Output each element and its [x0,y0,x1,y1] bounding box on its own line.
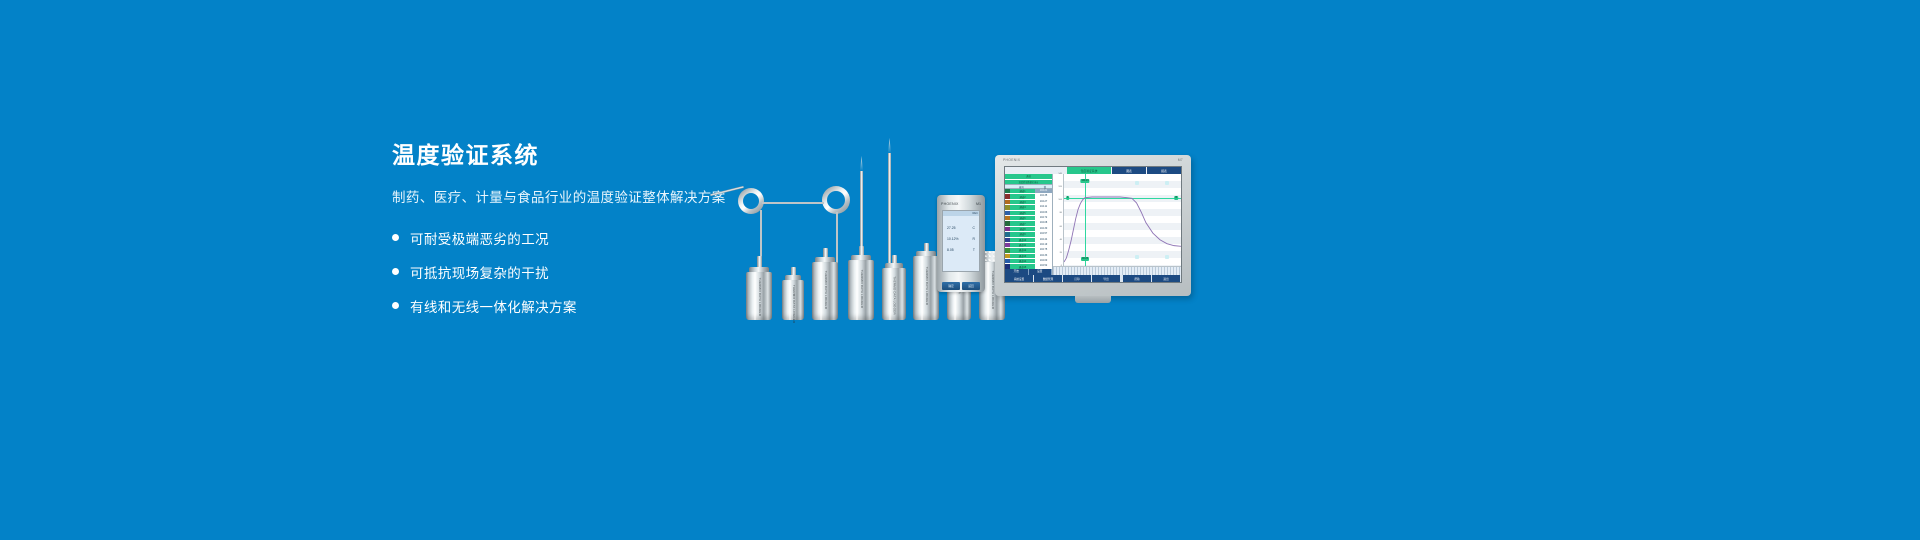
data-logger: THERMO DATA LOGGER [746,268,772,320]
axis-tick-label: 80 [1060,212,1062,214]
data-logger: THERMO DATA LOGGER [782,276,804,320]
axis-tick-label: 100 [1058,199,1062,201]
bullet-dot-icon [392,302,399,309]
bullet-text: 可抵抗现场复杂的干扰 [410,262,549,282]
logger-label: THERMO DATA LOGGER [924,266,928,283]
logger-highlight [921,256,923,320]
handheld-keypad[interactable]: 确定 返回 [942,282,980,290]
status-badge: REC [973,212,978,215]
column-header-name: 编号 [1005,185,1038,188]
channel-value: 104.08 [1035,221,1052,225]
logger-body: THERMO DATA LOGGER [882,268,906,320]
channel-value: 104.35 [1035,194,1052,198]
logger-body: THERMO DATA LOGGER [848,260,874,320]
brand-label: PHOENIX [1003,158,1020,164]
channel-name: 通道5 [1010,211,1035,215]
readout-value: 27.25 [947,226,956,230]
tab-report[interactable]: 报表 [1147,167,1181,174]
readout-value: 10.12% [947,237,959,241]
channel-value: 104.60 [1035,259,1052,263]
data-logger: THERMO DATA LOGGER [848,256,874,320]
handheld-reader-device[interactable]: PHOENIX M1 REC 27.25 C 10.12% R 8.05 T [937,195,985,292]
logger-body: THERMO DATA LOGGER [782,280,804,320]
app-bottom-toolbar[interactable]: 系统设置数据管理打印导出帮助退出 [1005,275,1181,282]
bullet-text: 可耐受极端恶劣的工况 [410,228,549,248]
axis-tick-label: 40 [1060,239,1062,241]
logger-label: THERMO DATA LOGGER [791,285,795,299]
bullet-dot-icon [392,234,399,241]
chart-annotation [1135,181,1139,185]
readout-value: 8.05 [947,248,954,252]
channel-name: 通道10 [1010,238,1035,242]
list-item: 8.05 T [947,248,975,252]
channel-data-panel: 通道 温度验证数据记录仪 编号 值 通道1104.21通道2104.35通道31… [1005,174,1053,275]
chart-annotation [1165,181,1169,185]
channel-value: 104.33 [1035,254,1052,258]
logger-body: THERMO DATA LOGGER [812,262,838,320]
axis-tick-label: 0 [1061,265,1062,267]
channel-name: 通道1 [1010,189,1035,193]
channel-value: 104.11 [1035,205,1052,209]
logger-label: THERMO DATA LOGGER [859,269,863,286]
coil-probe-icon [822,186,850,214]
channel-row-list: 通道1104.21通道2104.35通道3104.27通道4104.11通道51… [1005,189,1052,269]
logger-highlight [820,262,822,320]
readout-unit: C [973,226,975,230]
channel-name: 通道4 [1010,205,1035,209]
channel-value: 104.72 [1035,216,1052,220]
channel-value: 104.75 [1035,248,1052,252]
axis-tick-label: 60 [1060,226,1062,228]
chart-panel: 020406080100120140 104.21 00:25 A B [1053,174,1181,275]
channel-name: 通道13 [1010,254,1035,258]
readout-unit: T [973,248,975,252]
model-label: M1 [976,202,981,206]
logger-label: THERMO DATA LOGGER [990,271,994,288]
monitor-stand [1075,296,1111,303]
handheld-readout-list: 27.25 C 10.12% R 8.05 T [943,216,979,252]
toolbar-button[interactable]: 数据管理 [1034,275,1062,282]
channel-name: 通道6 [1010,216,1035,220]
cursor-top-label: 104.21 [1080,179,1089,183]
toolbar-button[interactable]: 帮助 [1123,275,1151,282]
channel-name: 通道8 [1010,227,1035,231]
confirm-button[interactable]: 确定 [942,282,960,290]
logger-highlight [987,262,989,320]
app-top-toolbar: 温度验证系统 图表 报表 [1005,167,1181,174]
channel-value: 104.63 [1035,211,1052,215]
channel-value: 104.57 [1035,232,1052,236]
toolbar-button[interactable]: 系统设置 [1005,275,1033,282]
bullet-text: 有线和无线一体化解决方案 [410,296,577,316]
hero-banner: 温度验证系统 制药、医疗、计量与食品行业的温度验证整体解决方案 可耐受极端恶劣的… [0,0,1920,540]
list-item: 27.25 C [947,226,975,230]
logger-highlight [856,260,858,320]
chart-annotation [1165,255,1169,259]
chart-plot-area[interactable]: 104.21 00:25 A B [1063,174,1181,266]
industrial-panel-monitor[interactable]: PHOENIX M7 温度验证系统 图表 报表 [995,155,1191,296]
handheld-screen: REC 27.25 C 10.12% R 8.05 T [942,210,980,272]
chart-area: 020406080100120140 104.21 00:25 A B [1053,174,1181,266]
channel-value: 104.30 [1035,227,1052,231]
channel-name: 通道2 [1010,195,1035,199]
tab-chart[interactable]: 图表 [1112,167,1146,174]
channel-name: 通道14 [1010,259,1035,263]
axis-tick-label: 140 [1058,173,1062,175]
logger-body: THERMO DATA LOGGER [913,256,939,320]
channel-value: 104.21 [1035,189,1052,193]
chart-y-axis: 020406080100120140 [1053,174,1063,266]
app-body: 通道 温度验证数据记录仪 编号 值 通道1104.21通道2104.35通道31… [1005,174,1181,275]
tab-temperature-validation[interactable]: 温度验证系统 [1067,167,1111,174]
logger-body: THERMO DATA LOGGER [746,272,772,320]
logger-label: THERMO DATA LOGGER [823,271,827,288]
axis-tick-label: 20 [1060,252,1062,254]
probe-wire [762,202,824,204]
list-item: 10.12% R [947,237,975,241]
chart-annotation [1135,255,1139,259]
channel-name: 通道12 [1010,248,1035,252]
logger-label: THERMO DATA LOGGER [757,278,761,295]
data-logger: THERMO DATA LOGGER [913,252,939,320]
data-logger: THERMO DATA LOGGER [812,258,838,320]
readout-unit: R [973,237,975,241]
brand-label: PHOENIX [941,202,959,206]
chart-x-axis [1053,266,1181,275]
logger-highlight [754,272,756,320]
channel-name: 通道3 [1010,200,1035,204]
handheld-brand-row: PHOENIX M1 [941,200,981,208]
monitor-brand-row: PHOENIX M7 [1003,158,1183,164]
chart-series-line [1064,174,1181,266]
reference-marker-a: A [1066,196,1070,200]
model-label: M7 [1178,158,1183,164]
channel-value: 104.44 [1035,238,1052,242]
reference-marker-b: B [1175,196,1179,200]
cursor-bottom-label: 00:25 [1081,257,1089,261]
monitor-screen: 温度验证系统 图表 报表 通道 温度验证数据记录仪 编号 [1004,166,1182,283]
logger-label: THERMO DATA LOGGER [892,276,896,291]
toolbar-button[interactable]: 打印 [1063,275,1091,282]
toolbar-button[interactable]: 导出 [1092,275,1120,282]
channel-value: 104.27 [1035,200,1052,204]
toolbar-button[interactable]: 退出 [1152,275,1180,282]
back-button[interactable]: 返回 [962,282,980,290]
channel-name: 通道9 [1010,232,1035,236]
bullet-dot-icon [392,268,399,275]
channel-name: 通道7 [1010,222,1035,226]
channel-value: 104.19 [1035,243,1052,247]
data-logger: THERMO DATA LOGGER [882,264,906,320]
channel-name: 通道11 [1010,243,1035,247]
column-header-value: 值 [1038,185,1052,188]
axis-tick-label: 120 [1058,186,1062,188]
